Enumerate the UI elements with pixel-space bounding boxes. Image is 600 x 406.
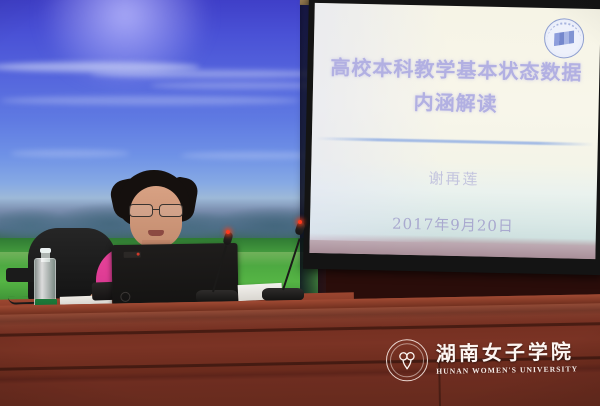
laptop-logo-icon xyxy=(124,252,141,258)
glasses-icon xyxy=(128,204,186,217)
cloud xyxy=(90,70,330,78)
microphone-indicator-light xyxy=(298,220,302,224)
slide-bottom-band xyxy=(309,240,595,259)
glasses-lens-right xyxy=(159,204,183,217)
water-bottle xyxy=(34,248,56,310)
cloud xyxy=(10,150,130,157)
hunan-womens-university-emblem-icon xyxy=(386,339,429,382)
projection-screen-surface: 高校本科教学基本状态数据 内涵解读 谢再莲 2017年9月20日 xyxy=(309,3,600,259)
university-name-block: 湖南女子学院 HUNAN WOMEN'S UNIVERSITY xyxy=(436,341,578,375)
slide-title-line-1: 高校本科教学基本状态数据 xyxy=(313,51,600,90)
lecture-photo-scene: 高校本科教学基本状态数据 内涵解读 谢再莲 2017年9月20日 xyxy=(0,0,600,406)
slide-title-line-2: 内涵解读 xyxy=(312,84,599,123)
university-branding: 湖南女子学院 HUNAN WOMEN'S UNIVERSITY xyxy=(386,336,579,381)
laptop-logo-dot xyxy=(137,253,140,256)
university-crest-icon xyxy=(544,18,585,59)
laptop-badge-icon xyxy=(120,292,130,302)
slide-title: 高校本科教学基本状态数据 内涵解读 xyxy=(312,51,599,123)
glasses-lens-left xyxy=(129,204,153,217)
mouth xyxy=(148,230,164,236)
university-name-cn: 湖南女子学院 xyxy=(436,341,578,364)
bottle-body xyxy=(34,258,56,310)
projection-screen-frame: 高校本科教学基本状态数据 内涵解读 谢再莲 2017年9月20日 xyxy=(303,0,600,275)
cloud xyxy=(0,96,300,105)
emblem-clover-icon xyxy=(398,350,416,370)
microphone-indicator-light xyxy=(226,230,230,234)
university-name-en: HUNAN WOMEN'S UNIVERSITY xyxy=(436,364,578,375)
face xyxy=(130,186,182,248)
